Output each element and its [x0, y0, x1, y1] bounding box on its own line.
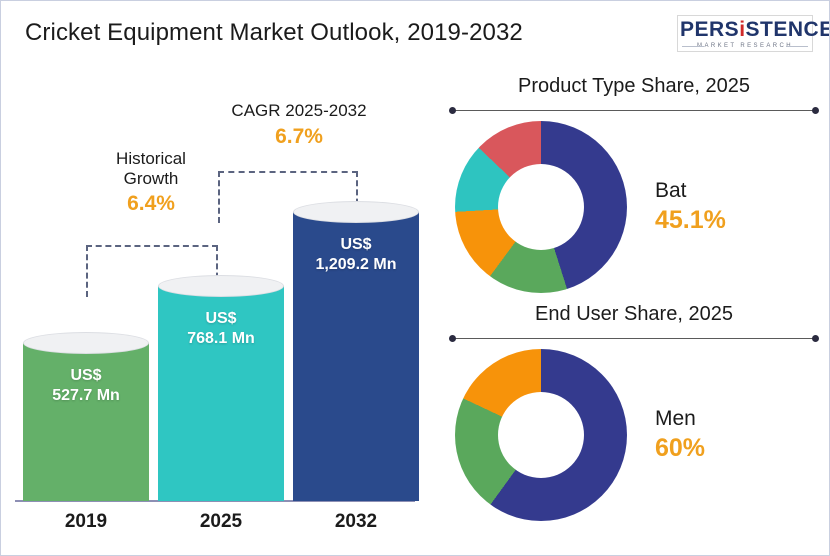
bar-chart: Historical Growth 6.4% CAGR 2025-2032 6.…	[1, 63, 431, 556]
bar-2019[interactable]: US$ 527.7 Mn 2019	[23, 332, 149, 501]
axis-label-2032: 2032	[293, 511, 419, 533]
product-type-legend-value: 45.1%	[655, 206, 726, 235]
end-user-legend: Men 60%	[655, 407, 705, 462]
cagr-value: 6.7%	[204, 125, 394, 149]
historical-growth-value: 6.4%	[76, 192, 226, 216]
bar-value-label-2019: US$ 527.7 Mn	[23, 366, 149, 405]
logo-word-part2: STENCE	[746, 18, 830, 41]
end-user-donut-row: Men 60%	[437, 349, 830, 521]
end-user-donut[interactable]	[455, 349, 627, 521]
bar-cylinder-2025: US$ 768.1 Mn	[158, 275, 284, 501]
end-user-share-section: End User Share, 2025 Men 60%	[437, 293, 830, 521]
product-type-donut[interactable]	[455, 121, 627, 293]
axis-label-2025: 2025	[158, 511, 284, 533]
bar-cylinder-2032: US$ 1,209.2 Mn	[293, 201, 419, 501]
logo-tagline: MARKET RESEARCH	[680, 43, 810, 49]
logo-wordmark: PERSiSTENCE	[680, 19, 810, 40]
end-user-share-title: End User Share, 2025	[437, 303, 830, 326]
cagr-annotation: CAGR 2025-2032 6.7%	[204, 101, 394, 149]
bar-top-ellipse-2025	[158, 275, 284, 297]
end-user-legend-value: 60%	[655, 434, 705, 463]
product-type-donut-row: Bat 45.1%	[437, 121, 830, 293]
historical-growth-annotation: Historical Growth 6.4%	[76, 149, 226, 216]
end-user-legend-name: Men	[655, 407, 705, 430]
bar-value-label-2025: US$ 768.1 Mn	[158, 309, 284, 348]
bar-2025[interactable]: US$ 768.1 Mn 2025	[158, 275, 284, 501]
bar-2032[interactable]: US$ 1,209.2 Mn 2032	[293, 201, 419, 501]
product-type-share-divider	[453, 110, 815, 111]
product-type-legend-name: Bat	[655, 179, 726, 202]
bar-cylinder-2019: US$ 527.7 Mn	[23, 332, 149, 501]
company-logo: PERSiSTENCE MARKET RESEARCH	[677, 15, 813, 52]
cagr-caption: CAGR 2025-2032	[204, 101, 394, 121]
bar-top-ellipse-2032	[293, 201, 419, 223]
historical-growth-caption-line1: Historical	[76, 149, 226, 169]
end-user-share-divider	[453, 338, 815, 339]
logo-word-part1: PERS	[680, 18, 739, 41]
product-type-legend: Bat 45.1%	[655, 179, 726, 234]
infographic-root: Cricket Equipment Market Outlook, 2019-2…	[0, 0, 830, 556]
share-panel: Product Type Share, 2025 Bat 45.1% End U…	[437, 63, 830, 556]
product-type-share-section: Product Type Share, 2025 Bat 45.1%	[437, 63, 830, 293]
bar-value-label-2032: US$ 1,209.2 Mn	[293, 235, 419, 274]
bar-top-ellipse-2019	[23, 332, 149, 354]
historical-growth-caption-line2: Growth	[76, 169, 226, 189]
page-title: Cricket Equipment Market Outlook, 2019-2…	[25, 19, 523, 47]
axis-label-2019: 2019	[23, 511, 149, 533]
product-type-share-title: Product Type Share, 2025	[437, 75, 830, 98]
